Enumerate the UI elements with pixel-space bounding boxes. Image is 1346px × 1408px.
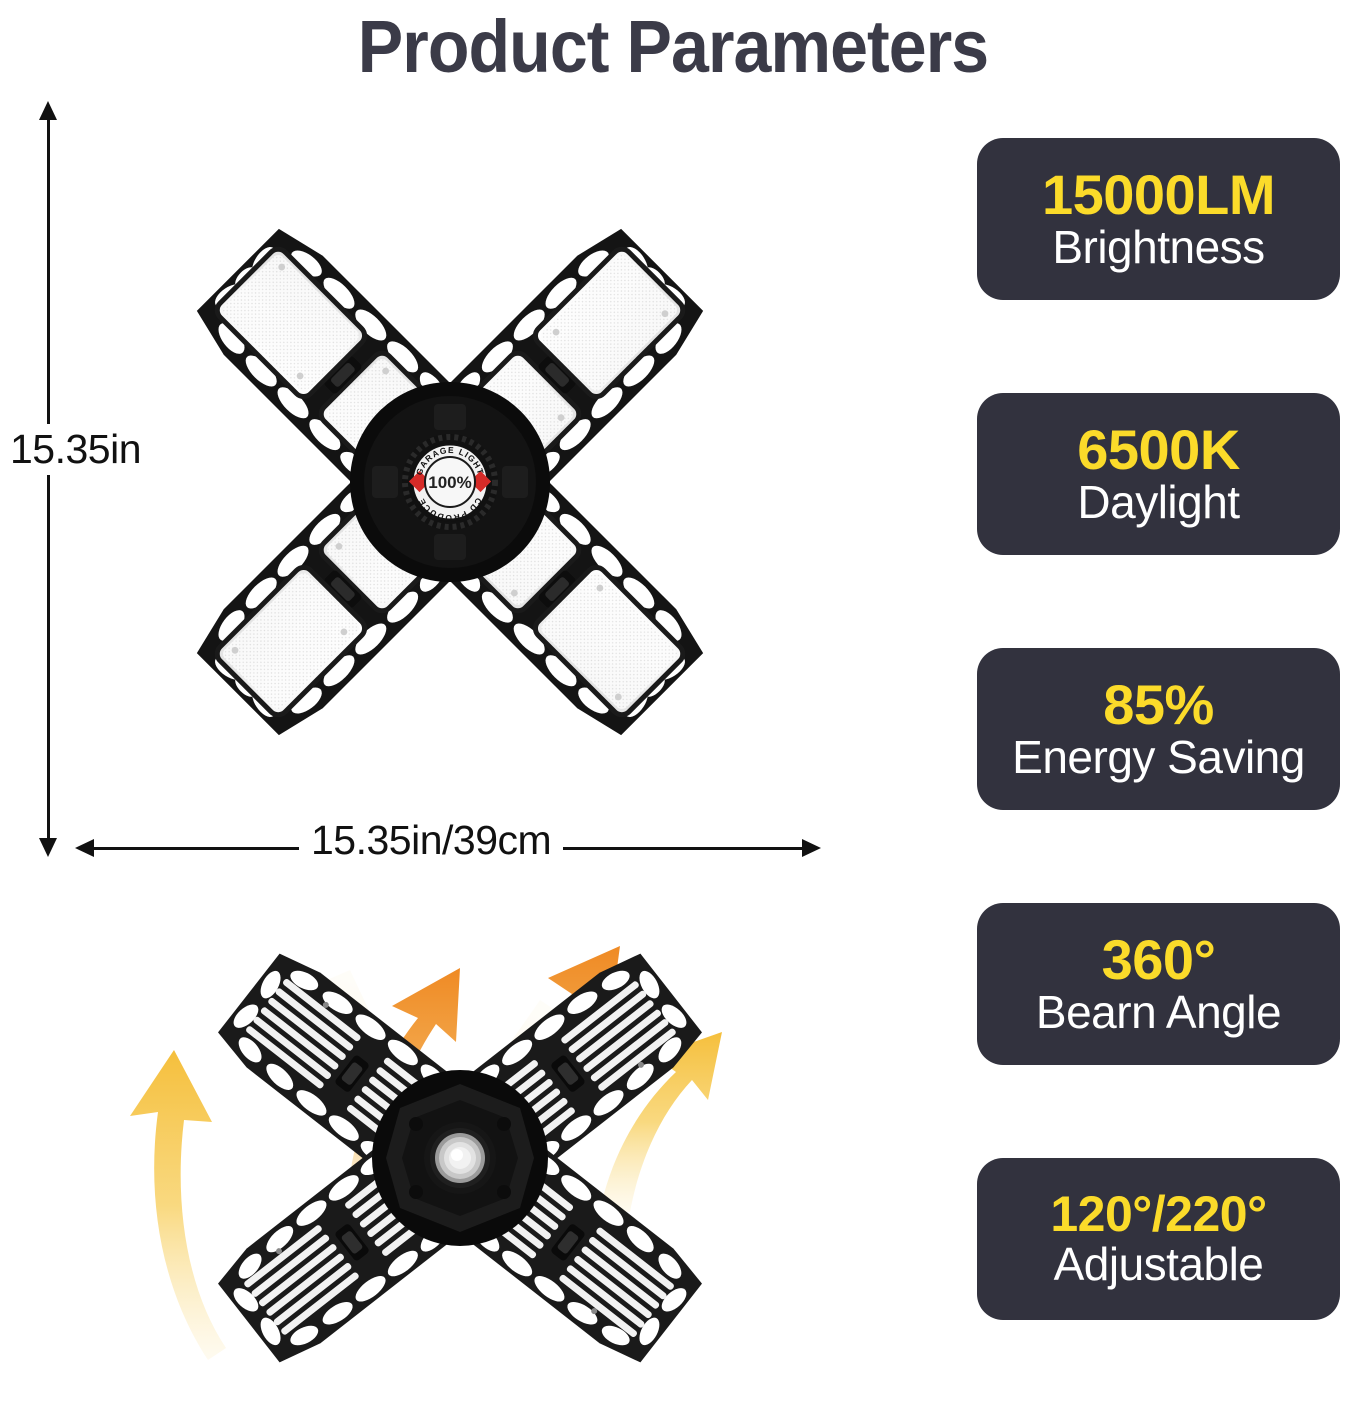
parameter-card-energy-saving[interactable]: 85% Energy Saving (977, 648, 1340, 810)
heat-dissipation-arrow-left (130, 1050, 226, 1360)
product-front-view-image: GARAGE LIGHT CD PRODUCE 100% (70, 112, 830, 852)
parameter-value-energy-saving: 85% (1103, 676, 1214, 733)
parameter-label-color-temperature: Daylight (1077, 478, 1239, 528)
parameter-label-adjustable-angle: Adjustable (1054, 1240, 1264, 1290)
parameter-label-brightness: Brightness (1052, 223, 1264, 273)
parameter-value-beam-angle: 360° (1102, 931, 1216, 988)
parameter-card-adjustable-angle[interactable]: 120°/220° Adjustable (977, 1158, 1340, 1320)
parameter-value-adjustable-angle: 120°/220° (1050, 1189, 1266, 1240)
hub-badge-center-text: 100% (428, 473, 471, 492)
parameter-value-brightness: 15000LM (1042, 166, 1275, 223)
product-rear-view-image (100, 890, 820, 1402)
parameter-card-brightness[interactable]: 15000LM Brightness (977, 138, 1340, 300)
product-parameters-infographic: Product Parameters (0, 0, 1346, 1408)
parameter-label-beam-angle: Bearn Angle (1036, 988, 1281, 1038)
width-dimension-label: 15.35in/39cm (299, 817, 563, 864)
parameter-card-beam-angle[interactable]: 360° Bearn Angle (977, 903, 1340, 1065)
height-dimension-label: 15.35in (4, 424, 147, 475)
parameter-card-color-temperature[interactable]: 6500K Daylight (977, 393, 1340, 555)
parameter-value-color-temperature: 6500K (1077, 421, 1240, 478)
parameter-label-energy-saving: Energy Saving (1012, 733, 1305, 783)
height-dimension-line (47, 118, 50, 840)
parameter-card-list: 15000LM Brightness 6500K Daylight 85% En… (977, 138, 1340, 1320)
page-title: Product Parameters (54, 4, 1292, 89)
